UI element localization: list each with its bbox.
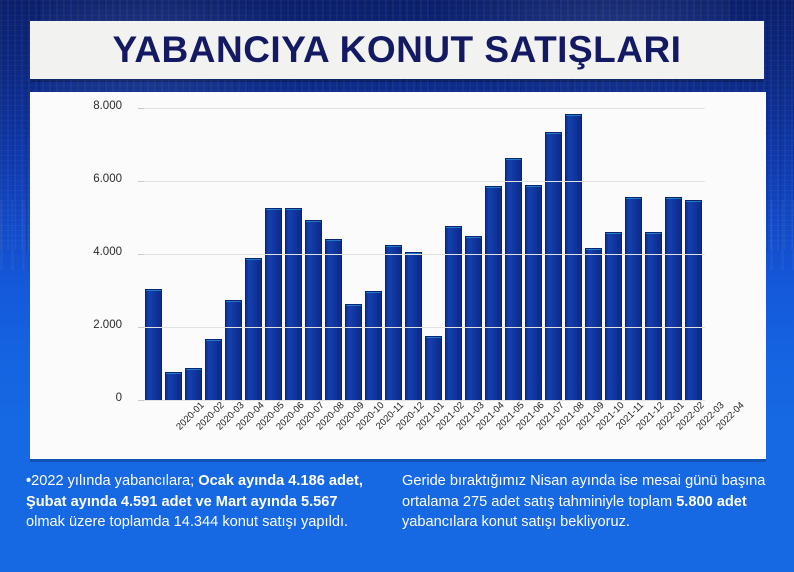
y-tick-mark [138, 108, 144, 109]
y-tick-mark [138, 327, 144, 328]
bar [445, 226, 462, 400]
bar [465, 236, 482, 400]
bar [665, 197, 682, 400]
page-title: YABANCIYA KONUT SATIŞLARI [113, 29, 682, 71]
note-left-seg3: olmak üzere toplamda 14.344 konut satışı… [26, 514, 348, 530]
bar [345, 304, 362, 400]
bar [525, 185, 542, 400]
bar [545, 132, 562, 400]
bar [485, 186, 502, 400]
gridline [143, 400, 705, 401]
y-tick-mark [138, 254, 144, 255]
note-right-seg3: yabancılara konut satışı bekliyoruz. [402, 514, 630, 530]
bar [605, 232, 622, 400]
bar [285, 208, 302, 400]
bar [305, 220, 322, 400]
y-tick-mark [138, 400, 144, 401]
bar [385, 245, 402, 400]
bar [685, 200, 702, 400]
bar [645, 232, 662, 400]
bar [225, 300, 242, 400]
note-left-seg1: 2022 yılında yabancılara; [31, 473, 198, 489]
gridline [143, 181, 705, 182]
bar [325, 239, 342, 400]
gridline [143, 327, 705, 328]
chart-panel: 02.0004.0006.0008.000 2020-012020-022020… [30, 92, 766, 459]
bar [205, 339, 222, 400]
bar [585, 248, 602, 400]
bar [625, 197, 642, 400]
bar [265, 208, 282, 400]
note-right: Geride bıraktığımız Nisan ayında ise mes… [392, 462, 794, 572]
bar [185, 368, 202, 400]
y-tick-mark [138, 181, 144, 182]
note-right-seg2: 5.800 adet [676, 494, 747, 510]
x-axis-labels: 2020-012020-022020-032020-042020-052020-… [30, 400, 766, 459]
note-left: •2022 yılında yabancılara; Ocak ayında 4… [0, 462, 392, 572]
bar [405, 252, 422, 400]
bar [145, 289, 162, 400]
bar [365, 291, 382, 400]
bar [565, 114, 582, 400]
title-banner: YABANCIYA KONUT SATIŞLARI [30, 21, 764, 79]
gridline [143, 254, 705, 255]
notes-section: •2022 yılında yabancılara; Ocak ayında 4… [0, 462, 794, 572]
gridline [143, 108, 705, 109]
bar-chart: 02.0004.0006.0008.000 2020-012020-022020… [30, 92, 766, 459]
bar [505, 158, 522, 400]
bar [245, 258, 262, 400]
bar [425, 336, 442, 400]
bar [165, 372, 182, 400]
